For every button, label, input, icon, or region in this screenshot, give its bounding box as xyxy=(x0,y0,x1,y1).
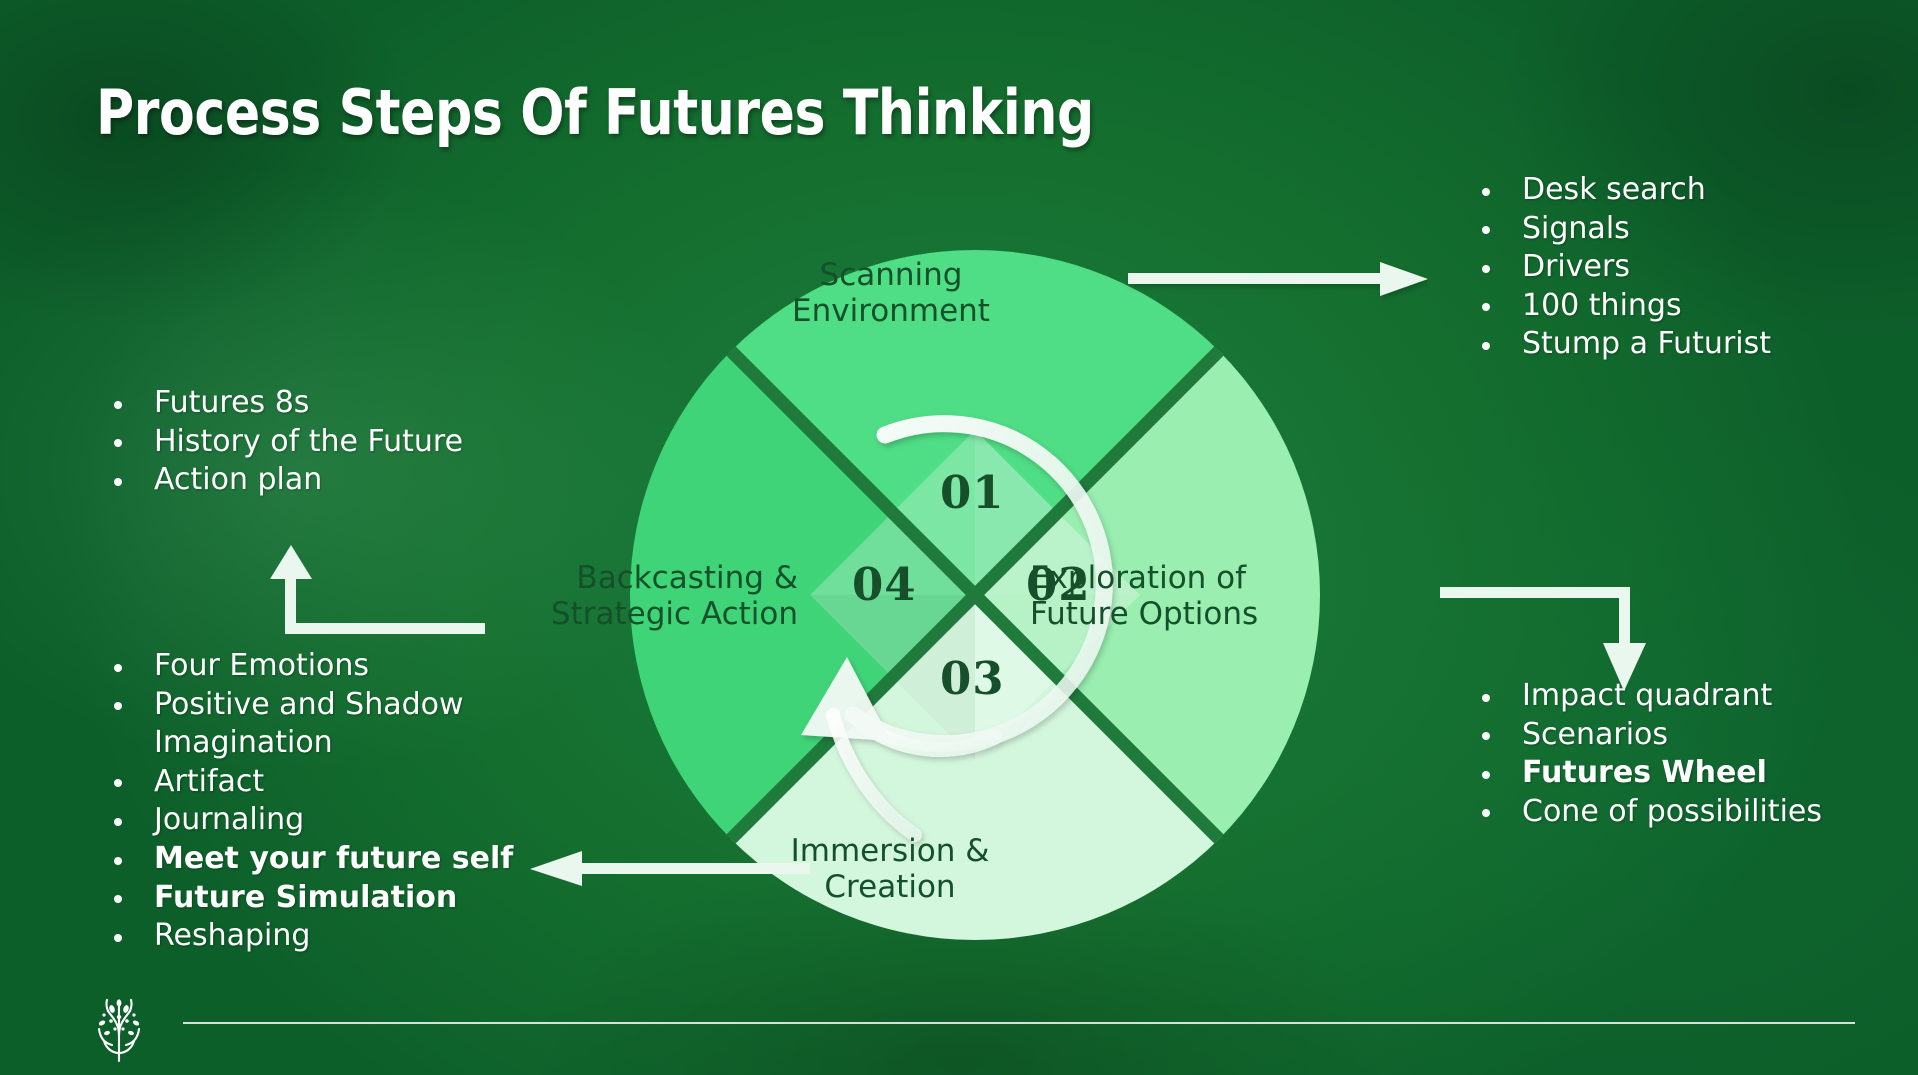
list-item-label: Positive and Shadow xyxy=(154,687,464,722)
arrow-left-up-elbow-icon xyxy=(285,545,485,655)
wheel-label-backcasting-line1: Backcasting & xyxy=(478,560,798,596)
list-item-label: Drivers xyxy=(1522,249,1630,284)
list-item: Stump a Futurist xyxy=(1478,326,1771,363)
wheel-step-number-04: 04 xyxy=(852,558,917,611)
list-item: Imagination xyxy=(110,725,513,762)
list-item: Scenarios xyxy=(1478,717,1822,754)
bullet-dot-icon xyxy=(1482,265,1490,273)
list-item: Desk search xyxy=(1478,172,1771,209)
bullet-dot-icon xyxy=(1482,188,1490,196)
list-item: Meet your future self xyxy=(110,841,513,878)
list-item: 100 things xyxy=(1478,288,1771,325)
tree-logo-icon xyxy=(88,995,150,1065)
bullet-dot-icon xyxy=(1482,303,1490,311)
list-item-label: Artifact xyxy=(154,764,264,799)
bullet-dot-icon xyxy=(1482,771,1490,779)
arrow-left-icon xyxy=(530,848,810,892)
list-item-label: Signals xyxy=(1522,211,1630,246)
bullet-dot-icon xyxy=(114,664,122,672)
wheel-step-number-03: 03 xyxy=(940,652,1005,705)
list-item-label: Cone of possibilities xyxy=(1522,794,1822,829)
bullet-dot-icon xyxy=(1482,226,1490,234)
bullet-dot-icon xyxy=(114,401,122,409)
arrow-right-icon xyxy=(1128,258,1428,302)
bullet-dot-icon xyxy=(1482,732,1490,740)
list-item: Cone of possibilities xyxy=(1478,794,1822,831)
list-item: Artifact xyxy=(110,764,513,801)
wheel-label-scanning-line2: Environment xyxy=(741,293,1041,329)
list-item-label: Reshaping xyxy=(154,918,310,953)
list-item: Signals xyxy=(1478,211,1771,248)
bullet-dot-icon xyxy=(114,818,122,826)
bullet-dot-icon xyxy=(114,895,122,903)
list-item-label: Meet your future self xyxy=(154,841,513,876)
list-item-label: Stump a Futurist xyxy=(1522,326,1771,361)
list-item: Reshaping xyxy=(110,918,513,955)
list-item: Action plan xyxy=(110,462,463,499)
list-item: Future Simulation xyxy=(110,880,513,917)
bullet-dot-icon xyxy=(114,934,122,942)
wheel-label-scanning-line1: Scanning xyxy=(741,257,1041,293)
list-item-label: Scenarios xyxy=(1522,717,1668,752)
bullet-list-exploration: Impact quadrantScenariosFutures WheelCon… xyxy=(1478,678,1822,832)
bullet-dot-icon xyxy=(114,478,122,486)
bullet-dot-icon xyxy=(114,857,122,865)
wheel-label-scanning: Scanning Environment xyxy=(741,257,1041,330)
bullet-list-backcasting: Futures 8sHistory of the FutureAction pl… xyxy=(110,385,463,501)
footer-divider xyxy=(183,1022,1855,1024)
list-item: Futures Wheel xyxy=(1478,755,1822,792)
bullet-dot-icon xyxy=(114,439,122,447)
list-item-label: Desk search xyxy=(1522,172,1706,207)
list-item-label: Futures Wheel xyxy=(1522,755,1767,790)
list-item-label: Action plan xyxy=(154,462,322,497)
list-item: Positive and Shadow xyxy=(110,687,513,724)
list-item-label: Futures 8s xyxy=(154,385,309,420)
bullet-list-scanning: Desk searchSignalsDrivers100 thingsStump… xyxy=(1478,172,1771,365)
list-item: Futures 8s xyxy=(110,385,463,422)
bullet-dot-icon xyxy=(1482,809,1490,817)
list-item-label: 100 things xyxy=(1522,288,1682,323)
page-title: Process Steps Of Futures Thinking xyxy=(96,76,1094,149)
list-item-label: Journaling xyxy=(154,802,304,837)
list-item-label: History of the Future xyxy=(154,424,463,459)
list-item-label: Imagination xyxy=(154,725,333,760)
list-item: History of the Future xyxy=(110,424,463,461)
bullet-dot-icon xyxy=(114,702,122,710)
list-item: Drivers xyxy=(1478,249,1771,286)
wheel-step-number-02: 02 xyxy=(1026,558,1091,611)
wheel-label-backcasting-line2: Strategic Action xyxy=(478,596,798,632)
bullet-list-immersion: Four EmotionsPositive and ShadowImaginat… xyxy=(110,648,513,957)
bullet-dot-icon xyxy=(1482,342,1490,350)
wheel-label-backcasting: Backcasting & Strategic Action xyxy=(478,560,798,633)
bullet-dot-icon xyxy=(114,779,122,787)
arrow-right-down-elbow-icon xyxy=(1440,587,1660,697)
wheel-step-number-01: 01 xyxy=(940,466,1005,519)
list-item-label: Future Simulation xyxy=(154,880,457,915)
list-item: Journaling xyxy=(110,802,513,839)
